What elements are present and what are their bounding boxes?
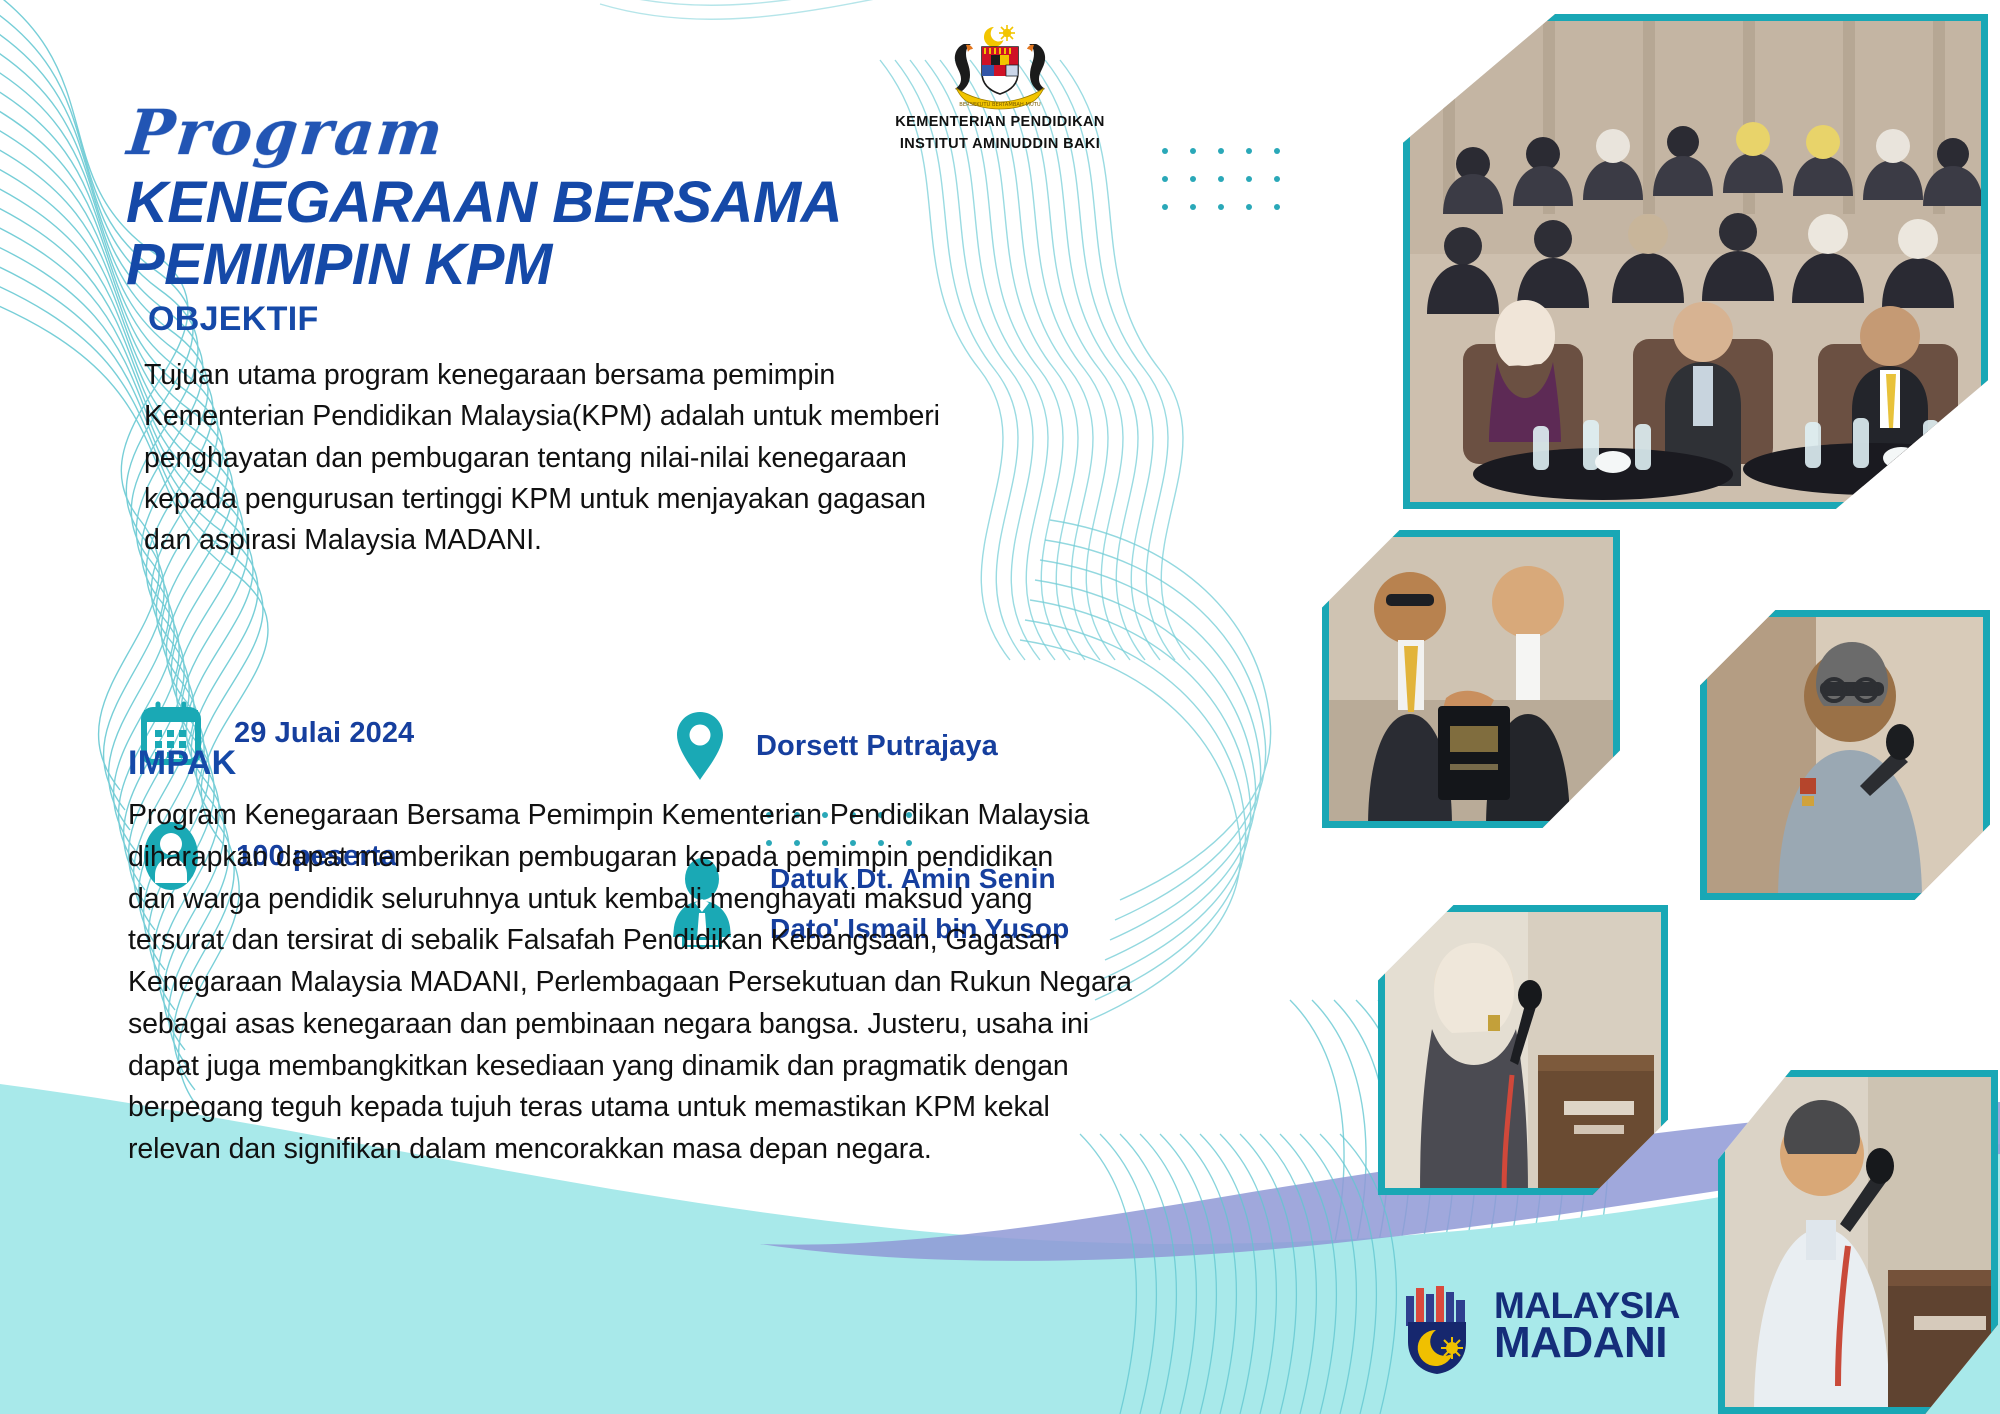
objektif-line: Kementerian Pendidikan Malaysia(KPM) ada… (144, 396, 1234, 437)
dot (1246, 176, 1252, 182)
location-pin-icon (672, 710, 728, 782)
ministry-name-line-1: KEMENTERIAN PENDIDIKAN (855, 114, 1145, 132)
dot (1218, 204, 1224, 210)
handshake-souvenir (1322, 530, 1620, 828)
impak-line: Kenegaraan Malaysia MADANI, Perlembagaan… (128, 962, 1358, 1004)
impak-line: berpegang teguh kepada tujuh teras utama… (128, 1087, 1358, 1129)
objektif-line: Tujuan utama program kenegaraan bersama … (144, 355, 1234, 396)
group-photo-audience (1403, 14, 1988, 509)
impak-line: relevan dan signifikan dalam mencorakkan… (128, 1129, 1358, 1171)
dot (1162, 176, 1168, 182)
ministry-emblem-block: BERSEKUTU BERTAMBAH MUTU KEMENTERIAN PEN… (855, 18, 1145, 153)
impak-line: dan warga pendidik seluruhnya untuk kemb… (128, 879, 1358, 921)
impak-line: sebagai asas kenegaraan dan pembinaan ne… (128, 1004, 1358, 1046)
impak-heading: IMPAK (128, 744, 237, 783)
dot (1190, 176, 1196, 182)
male-speaker-podium (1718, 1070, 1998, 1414)
dot (1246, 148, 1252, 154)
dot (1274, 176, 1280, 182)
event-venue-value: Dorsett Putrajaya (756, 730, 998, 763)
malaysia-madani-emblem-icon (1392, 1278, 1484, 1374)
dot (1246, 204, 1252, 210)
objektif-line: penghayatan dan pembugaran tentang nilai… (144, 438, 1234, 479)
female-speaker-podium (1378, 905, 1668, 1195)
dot-grid-decoration-top (1162, 148, 1280, 210)
dot (1274, 204, 1280, 210)
impak-paragraph: Program Kenegaraan Bersama Pemimpin Keme… (128, 795, 1358, 1171)
program-script-title: Program (124, 96, 448, 169)
impak-line: diharapkan dapat memberikan pembugaran k… (128, 837, 1358, 879)
madani-wordmark: MALAYSIA MADANI (1494, 1289, 1680, 1364)
malaysia-madani-logo: MALAYSIA MADANI (1392, 1278, 1680, 1374)
malaysia-coat-of-arms-icon: BERSEKUTU BERTAMBAH MUTU (930, 18, 1070, 110)
dot (1190, 148, 1196, 154)
page-title-line-1: KENEGARAAN BERSAMA (126, 172, 1126, 234)
impak-line: Program Kenegaraan Bersama Pemimpin Keme… (128, 795, 1358, 837)
impak-line: tersurat dan tersirat di sebalik Falsafa… (128, 920, 1358, 962)
poster-canvas: BERSEKUTU BERTAMBAH MUTU KEMENTERIAN PEN… (0, 0, 2000, 1414)
dot (1218, 176, 1224, 182)
svg-text:BERSEKUTU BERTAMBAH MUTU: BERSEKUTU BERTAMBAH MUTU (959, 102, 1041, 108)
objektif-line: kepada pengurusan tertinggi KPM untuk me… (144, 479, 1234, 520)
event-venue-item: Dorsett Putrajaya (672, 710, 998, 782)
dot (1274, 148, 1280, 154)
dot (1162, 148, 1168, 154)
event-date-value: 29 Julai 2024 (234, 717, 414, 750)
page-title: KENEGARAAN BERSAMA PEMIMPIN KPM (126, 172, 1126, 296)
speaker-with-microphone (1700, 610, 1990, 900)
dot (1190, 204, 1196, 210)
ministry-name-line-2: INSTITUT AMINUDDIN BAKI (855, 136, 1145, 154)
objektif-paragraph: Tujuan utama program kenegaraan bersama … (144, 355, 1234, 562)
objektif-heading: OBJEKTIF (148, 300, 319, 339)
madani-line-2: MADANI (1494, 1323, 1680, 1363)
dot (1218, 148, 1224, 154)
dot (1162, 204, 1168, 210)
impak-line: dapat juga membangkitkan kesediaan yang … (128, 1046, 1358, 1088)
objektif-line: dan aspirasi Malaysia MADANI. (144, 520, 1234, 561)
page-title-line-2: PEMIMPIN KPM (126, 234, 1126, 296)
